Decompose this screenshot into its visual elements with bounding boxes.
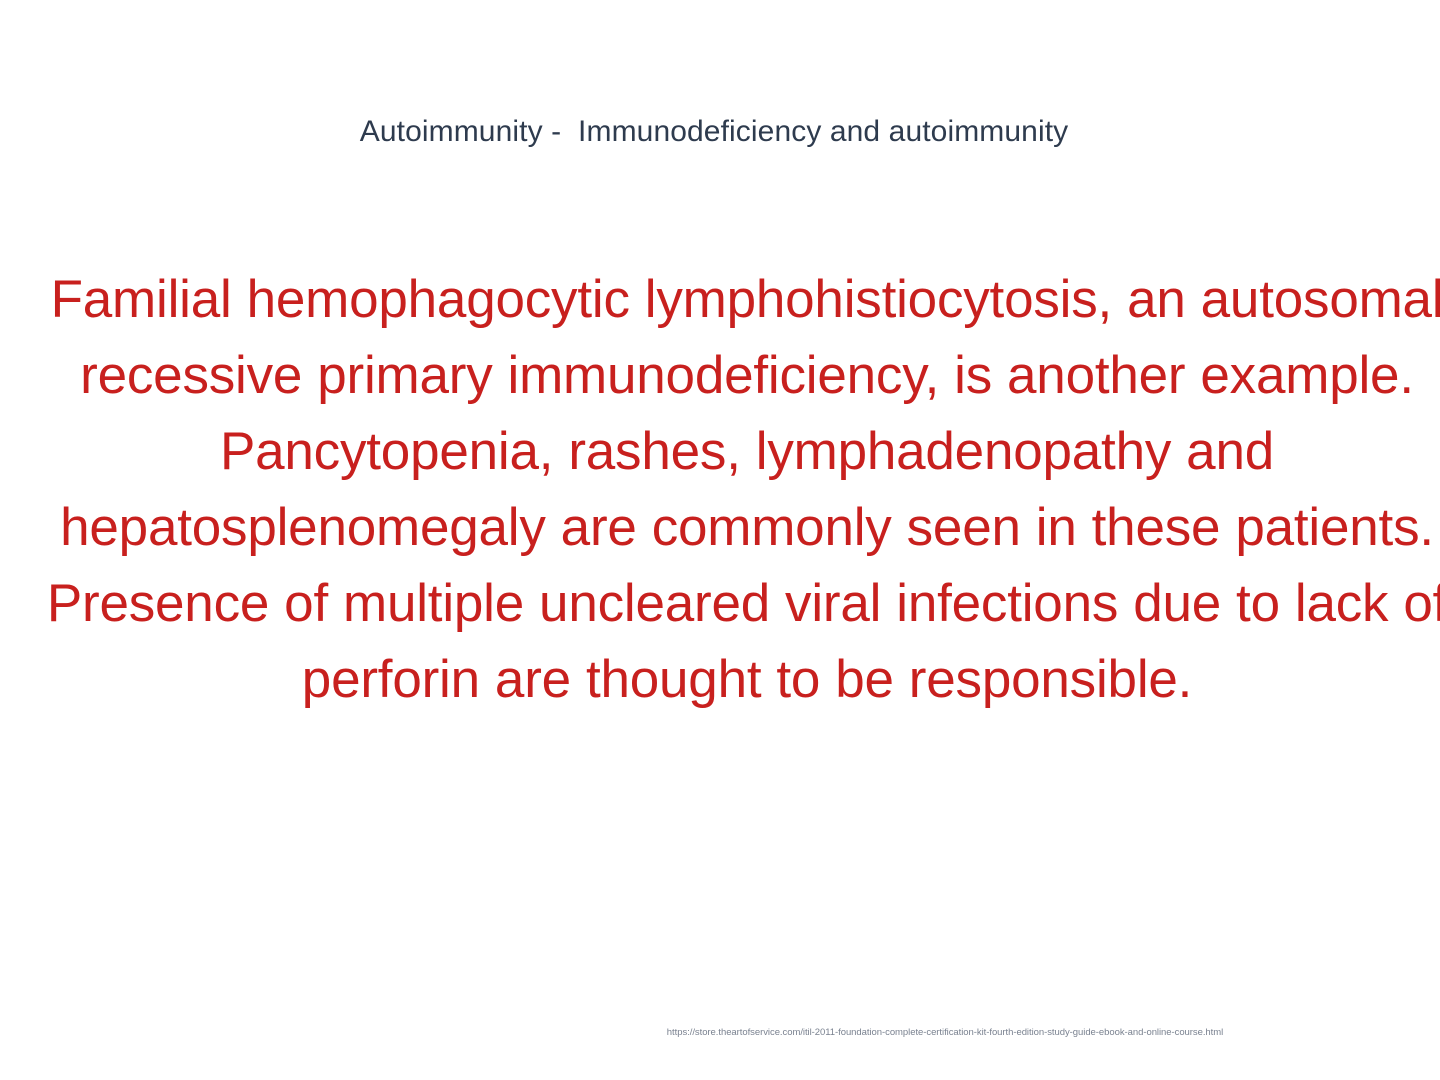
- source-url-link[interactable]: https://store.theartofservice.com/itil-2…: [667, 1026, 1223, 1040]
- body-paragraph: Familial hemophagocytic lymphohistiocyto…: [12, 262, 1440, 718]
- slide-body-container: Familial hemophagocytic lymphohistiocyto…: [0, 262, 1440, 718]
- presentation-slide: Autoimmunity - Immunodeficiency and auto…: [0, 0, 1440, 1080]
- page-title: Autoimmunity - Immunodeficiency and auto…: [360, 112, 1069, 152]
- slide-title-container: Autoimmunity - Immunodeficiency and auto…: [0, 112, 1428, 152]
- slide-footer-container: https://store.theartofservice.com/itil-2…: [0, 1022, 1440, 1040]
